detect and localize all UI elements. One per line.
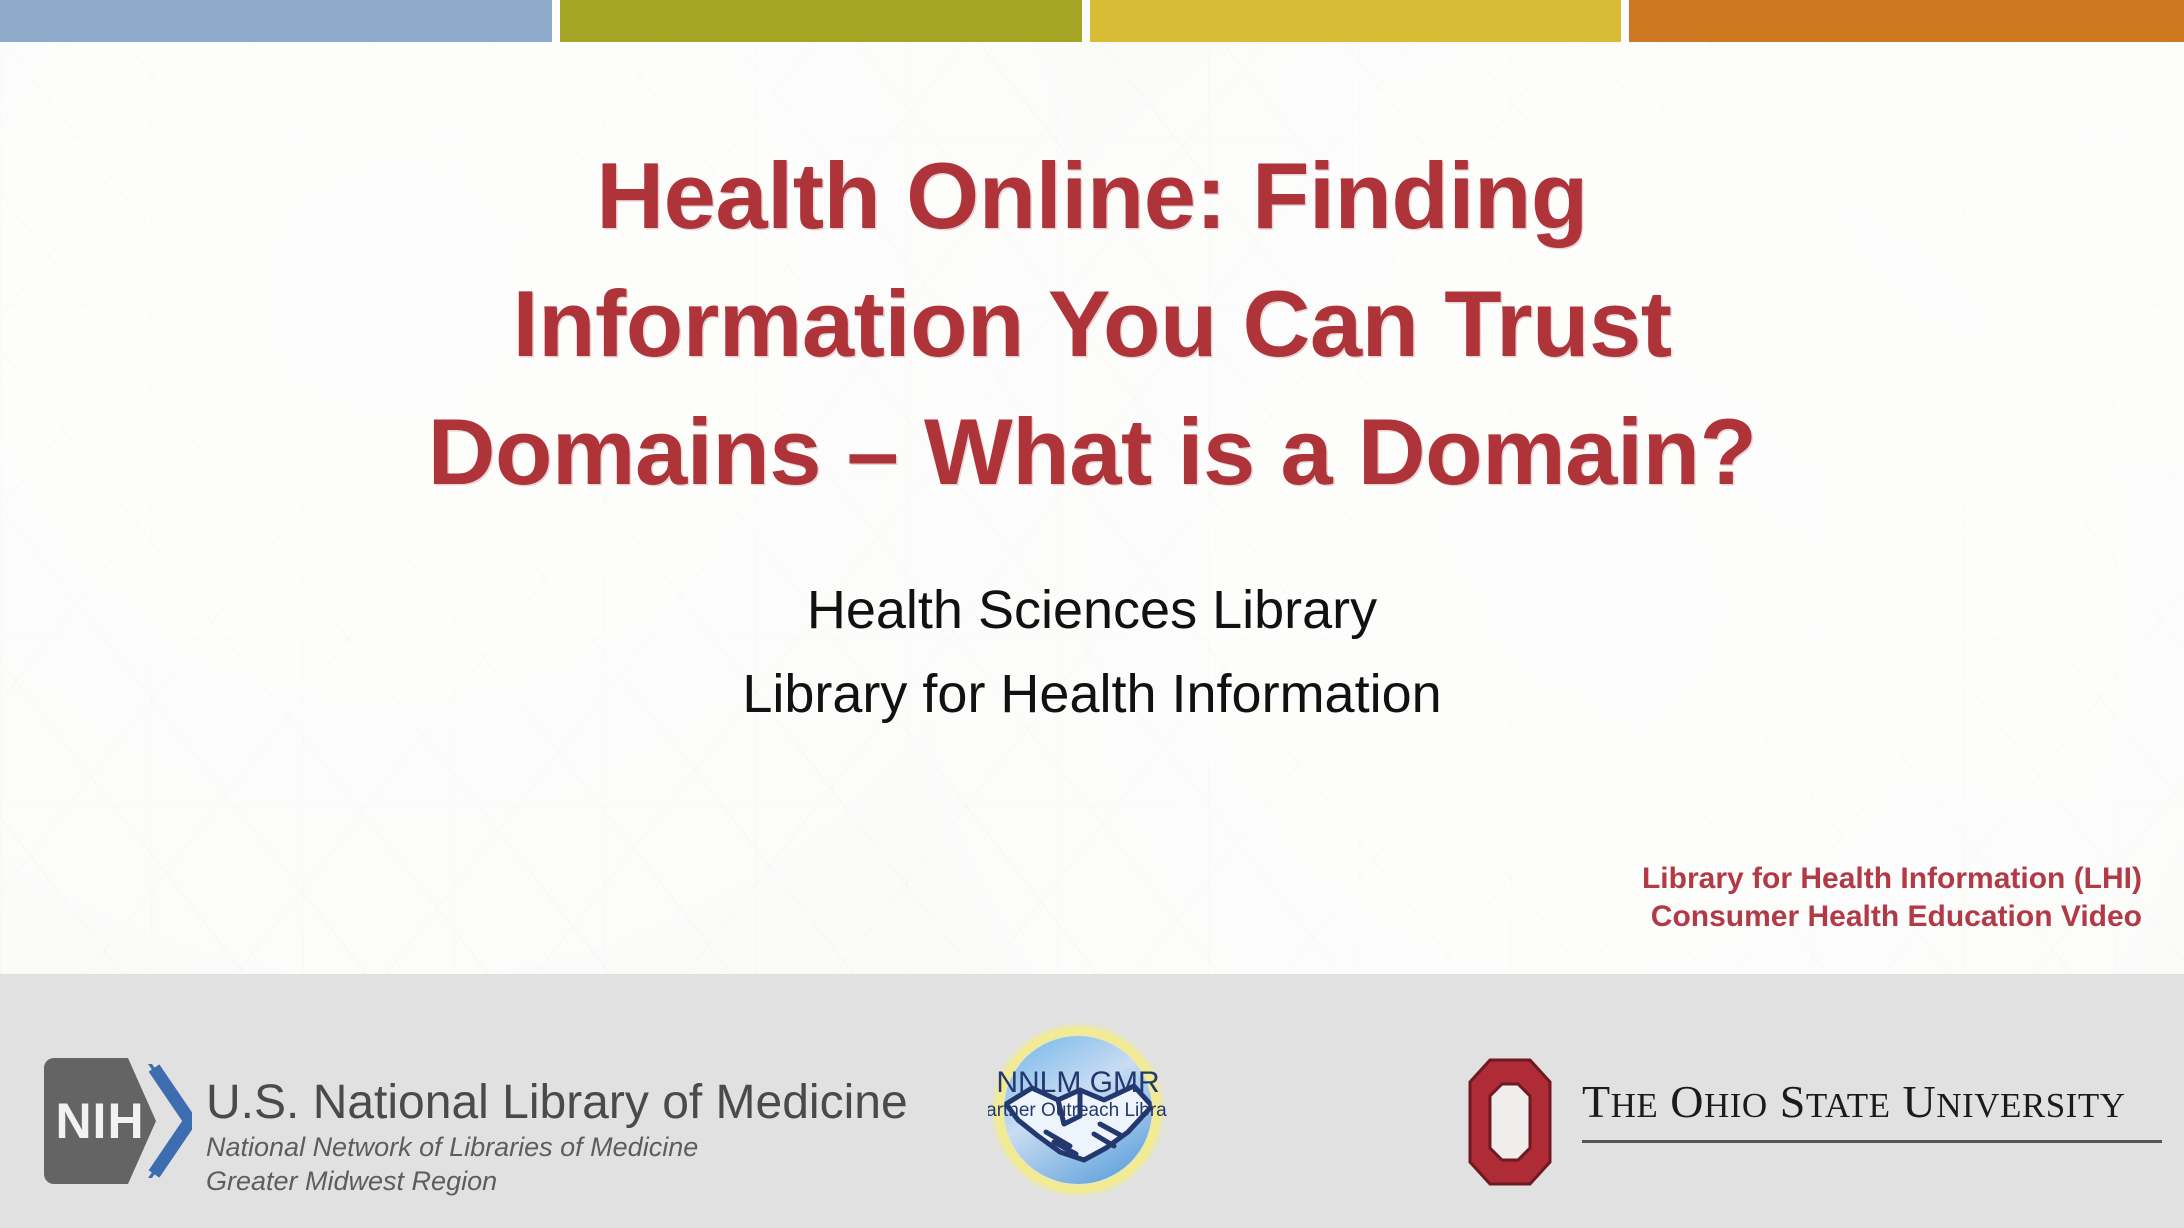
slide-subtitle: Health Sciences Library Library for Heal… xyxy=(0,568,2184,736)
subtitle-line-1: Health Sciences Library xyxy=(0,568,2184,652)
osu-word-univ-rest: NIVERSITY xyxy=(1936,1086,2125,1125)
presentation-slide: Health Online: Finding Information You C… xyxy=(0,0,2184,1228)
osu-name-text: THE OHIO STATE UNIVERSITY xyxy=(1582,1076,2162,1132)
osu-word-the-cap: T xyxy=(1582,1076,1611,1127)
nnlm-subtitle: Partner Outreach Library xyxy=(988,1100,1168,1121)
color-bar-gap-3 xyxy=(1621,0,1629,42)
title-line-2: Information You Can Trust xyxy=(0,260,2184,388)
credit-line-2: Consumer Health Education Video xyxy=(1642,898,2142,936)
osu-block-o-icon xyxy=(1468,1058,1552,1186)
title-line-1: Health Online: Finding xyxy=(0,132,2184,260)
nih-badge-text: NIH xyxy=(44,1058,156,1184)
color-bar-gap-1 xyxy=(552,0,560,42)
credit-line-1: Library for Health Information (LHI) xyxy=(1642,860,2142,898)
osu-underline-rule xyxy=(1582,1140,2162,1143)
slide-title: Health Online: Finding Information You C… xyxy=(0,132,2184,516)
color-bar-orange xyxy=(1629,0,2184,42)
nih-chevron-icon xyxy=(148,1064,192,1178)
ohio-state-university-logo: THE OHIO STATE UNIVERSITY xyxy=(1468,1056,2162,1186)
nnlm-title: NNLM GMR xyxy=(996,1066,1159,1099)
color-bar-gap-2 xyxy=(1082,0,1090,42)
color-bar-olive xyxy=(560,0,1082,42)
nih-badge: NIH xyxy=(44,1058,190,1184)
top-color-bar-strip xyxy=(0,0,2184,44)
nlm-main-title: U.S. National Library of Medicine xyxy=(206,1076,908,1130)
color-bar-blue xyxy=(0,0,552,42)
osu-word-univ-cap: U xyxy=(1903,1076,1937,1127)
title-line-3: Domains – What is a Domain? xyxy=(0,388,2184,516)
nlm-subtitle-1: National Network of Libraries of Medicin… xyxy=(206,1130,908,1164)
nnlm-gmr-logo: NNLM GMR Partner Outreach Library xyxy=(988,1020,1168,1200)
nlm-text-block: U.S. National Library of Medicine Nation… xyxy=(206,1058,908,1198)
osu-word-state-rest: TATE xyxy=(1806,1086,1891,1125)
osu-wordmark: THE OHIO STATE UNIVERSITY xyxy=(1582,1056,2162,1143)
nih-nlm-logo: NIH U.S. National Library of Medicine Na… xyxy=(44,1058,908,1198)
osu-word-ohio-rest: HIO xyxy=(1704,1086,1768,1125)
color-bar-yellow xyxy=(1090,0,1621,42)
osu-word-ohio-cap: O xyxy=(1670,1076,1704,1127)
subtitle-line-2: Library for Health Information xyxy=(0,652,2184,736)
nlm-subtitle-2: Greater Midwest Region xyxy=(206,1164,908,1198)
credit-block: Library for Health Information (LHI) Con… xyxy=(1642,860,2142,936)
osu-word-the-rest: HE xyxy=(1611,1086,1659,1125)
osu-word-state-cap: S xyxy=(1780,1076,1806,1127)
